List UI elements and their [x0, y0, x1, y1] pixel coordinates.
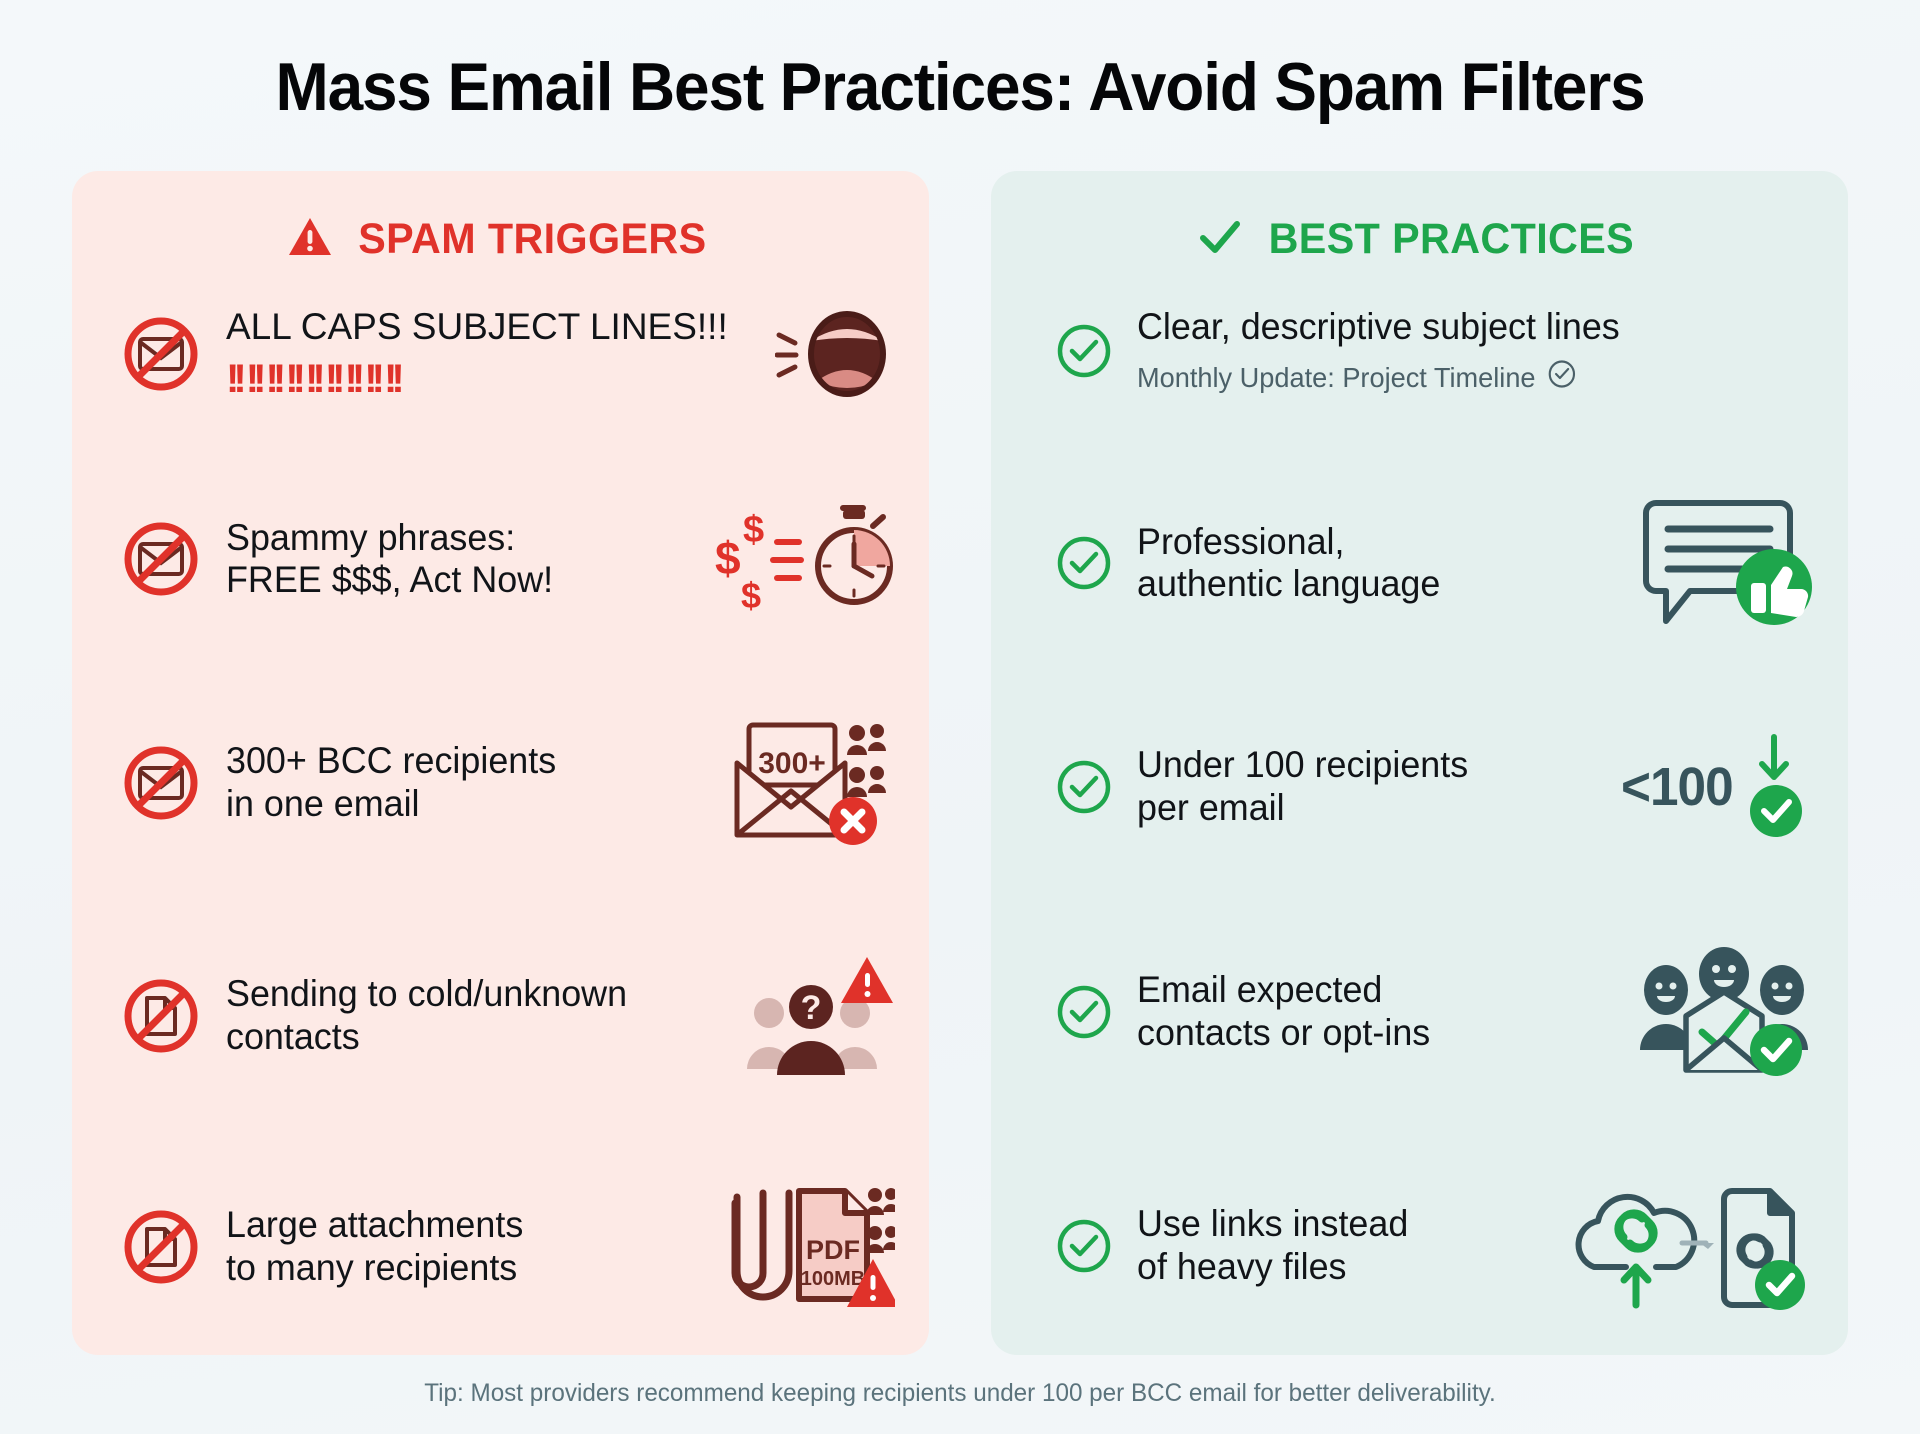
envelope-count-label: 300+	[758, 747, 826, 780]
best-row-subline-label: Monthly Update: Project Timeline	[1137, 362, 1536, 394]
spam-row-cold-contacts: Sending to cold/unknown contacts ?	[106, 951, 895, 1081]
no-document-icon	[118, 974, 204, 1058]
best-panel-title: BEST PRACTICES	[1269, 215, 1634, 264]
spam-rows: ALL CAPS SUBJECT LINES!!! !! !! !! !! !!…	[106, 306, 895, 1325]
best-row-expected-contacts: Email expected contacts or opt-ins	[1025, 946, 1814, 1078]
no-document-icon	[118, 1205, 204, 1289]
bangs-label: !! !! !! !! !! !! !! !! !!	[226, 357, 399, 402]
check-circle-icon	[1053, 322, 1115, 380]
best-row-text: Professional, authentic language	[1137, 521, 1616, 607]
best-rows: Clear, descriptive subject lines Monthly…	[1025, 306, 1814, 1325]
best-row-label-line2: of heavy files	[1137, 1246, 1530, 1289]
best-row-text: Under 100 recipients per email	[1137, 744, 1596, 830]
svg-text:$: $	[741, 575, 761, 614]
cloud-link-file-icon	[1564, 1181, 1814, 1311]
spam-panel-title: SPAM TRIGGERS	[358, 215, 706, 264]
best-row-text: Clear, descriptive subject lines Monthly…	[1137, 306, 1814, 396]
best-row-under-100: Under 100 recipients per email <100	[1025, 731, 1814, 843]
spam-row-text: 300+ BCC recipients in one email	[226, 740, 705, 826]
spam-triggers-panel: SPAM TRIGGERS ALL CAPS SUBJECT LINE	[72, 171, 929, 1355]
spam-row-large-attachments: Large attachments to many recipients PDF…	[106, 1183, 895, 1311]
spam-row-label-line1: Sending to cold/unknown	[226, 973, 708, 1016]
best-row-professional-language: Professional, authentic language	[1025, 499, 1814, 627]
exclamation-marks: !! !! !! !! !! !! !! !! !!	[226, 357, 753, 402]
infographic-page: Mass Email Best Practices: Avoid Spam Fi…	[0, 0, 1920, 1434]
best-row-label-line2: per email	[1137, 787, 1583, 830]
panels-container: SPAM TRIGGERS ALL CAPS SUBJECT LINE	[72, 171, 1848, 1355]
under-100-label: <100	[1621, 756, 1733, 818]
spam-row-label-line2: in one email	[226, 783, 691, 826]
pdf-size-label: 100MB	[801, 1268, 865, 1290]
best-row-label-line1: Email expected	[1137, 969, 1600, 1012]
no-email-icon	[118, 517, 204, 601]
best-row-label: Clear, descriptive subject lines	[1137, 306, 1794, 349]
spam-row-bcc-recipients: 300+ BCC recipients in one email 300+	[106, 717, 895, 849]
check-icon	[1197, 216, 1243, 263]
spam-row-spammy-phrases: Spammy phrases: FREE $$$, Act Now! $ $ $	[106, 504, 895, 614]
spam-row-text: Large attachments to many recipients	[226, 1204, 701, 1290]
no-email-icon	[118, 312, 204, 396]
spam-row-text: Spammy phrases: FREE $$$, Act Now!	[226, 517, 693, 603]
unknown-contact-icon: ?	[745, 951, 895, 1081]
spam-row-text: ALL CAPS SUBJECT LINES!!! !! !! !! !! !!…	[226, 306, 753, 402]
check-circle-icon	[1053, 758, 1115, 816]
under-100-icon: <100	[1618, 731, 1814, 843]
page-title: Mass Email Best Practices: Avoid Spam Fi…	[125, 52, 1794, 123]
best-row-subject-lines: Clear, descriptive subject lines Monthly…	[1025, 306, 1814, 396]
pdf-type-label: PDF	[806, 1235, 860, 1265]
spam-row-all-caps: ALL CAPS SUBJECT LINES!!! !! !! !! !! !!…	[106, 306, 895, 402]
best-row-label-line1: Use links instead	[1137, 1203, 1530, 1246]
chat-thumbs-up-icon	[1638, 499, 1814, 627]
no-email-icon	[118, 741, 204, 825]
footer-tip: Tip: Most providers recommend keeping re…	[99, 1355, 1822, 1434]
shouting-mouth-icon	[775, 311, 895, 397]
check-circle-small-icon	[1547, 359, 1576, 396]
best-row-label-line1: Professional,	[1137, 521, 1602, 564]
spam-row-label-line1: 300+ BCC recipients	[226, 740, 691, 783]
spam-row-label-line2: contacts	[226, 1016, 708, 1059]
svg-text:$: $	[715, 532, 741, 584]
envelope-300plus-icon: 300+	[727, 717, 895, 849]
check-circle-icon	[1053, 534, 1115, 592]
spam-row-text: Sending to cold/unknown contacts	[226, 973, 723, 1059]
check-circle-icon	[1053, 1217, 1115, 1275]
best-practices-panel: BEST PRACTICES Clear, descriptive subjec…	[991, 171, 1848, 1355]
best-row-use-links: Use links instead of heavy files	[1025, 1181, 1814, 1311]
svg-text:?: ?	[801, 989, 822, 1027]
spam-row-label-line1: Spammy phrases:	[226, 517, 679, 560]
best-row-text: Email expected contacts or opt-ins	[1137, 969, 1614, 1055]
happy-people-envelope-icon	[1636, 946, 1814, 1078]
best-row-subline: Monthly Update: Project Timeline	[1137, 359, 1794, 396]
svg-text:$: $	[743, 509, 764, 551]
spam-row-label-line1: Large attachments	[226, 1204, 687, 1247]
spam-row-label: ALL CAPS SUBJECT LINES!!!	[226, 306, 728, 347]
spam-row-label-line2: to many recipients	[226, 1247, 687, 1290]
money-stopwatch-icon: $ $ $	[715, 504, 895, 614]
best-row-label-line2: authentic language	[1137, 563, 1602, 606]
best-panel-header: BEST PRACTICES	[1025, 215, 1814, 264]
best-row-text: Use links instead of heavy files	[1137, 1203, 1542, 1289]
best-row-label-line1: Under 100 recipients	[1137, 744, 1583, 787]
check-circle-icon	[1053, 983, 1115, 1041]
pdf-attachment-icon: PDF 100MB	[723, 1183, 895, 1311]
best-row-label-line2: contacts or opt-ins	[1137, 1012, 1600, 1055]
spam-row-label-line2: FREE $$$, Act Now!	[226, 559, 679, 602]
warning-triangle-icon	[287, 216, 333, 263]
spam-panel-header: SPAM TRIGGERS	[106, 215, 895, 264]
